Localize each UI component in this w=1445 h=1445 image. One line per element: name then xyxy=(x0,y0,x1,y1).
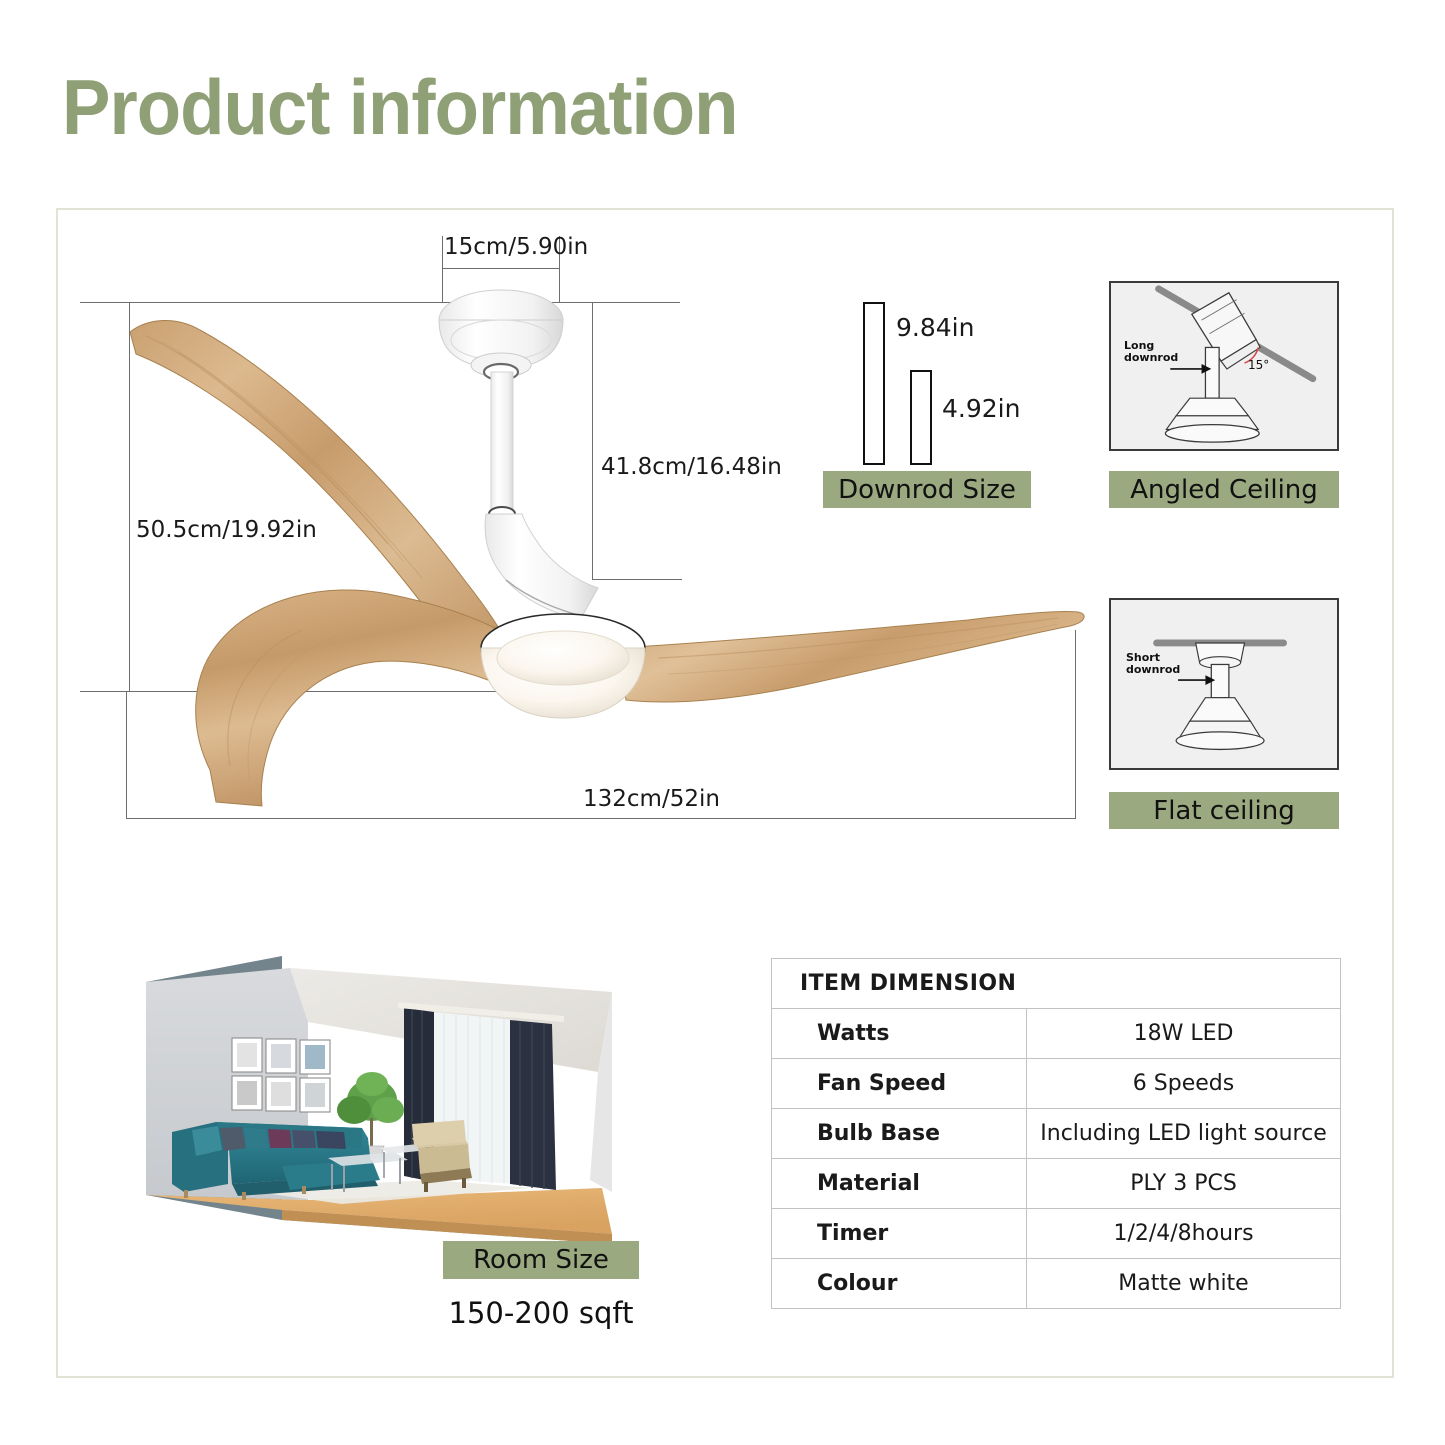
table-row: Colour Matte white xyxy=(772,1259,1341,1309)
short-downrod-bar xyxy=(910,370,932,465)
long-downrod-label: 9.84in xyxy=(896,313,974,342)
row-value-material: PLY 3 PCS xyxy=(1027,1159,1341,1209)
angled-ceiling-diagram: Long downrod 15° xyxy=(1109,281,1339,451)
row-value-timer: 1/2/4/8hours xyxy=(1027,1209,1341,1259)
row-value-colour: Matte white xyxy=(1027,1259,1341,1309)
short-downrod-callout: Short downrod xyxy=(1126,652,1180,676)
table-row: Fan Speed 6 Speeds xyxy=(772,1059,1341,1109)
row-value-fan-speed: 6 Speeds xyxy=(1027,1059,1341,1109)
row-key-timer: Timer xyxy=(772,1209,1027,1259)
long-downrod-bar xyxy=(863,302,885,465)
row-key-material: Material xyxy=(772,1159,1027,1209)
room-illustration xyxy=(132,952,622,1254)
angled-ceiling-chip: Angled Ceiling xyxy=(1109,471,1339,508)
row-value-watts: 18W LED xyxy=(1027,1009,1341,1059)
flat-ceiling-chip: Flat ceiling xyxy=(1109,792,1339,829)
row-value-bulb-base: Including LED light source xyxy=(1027,1109,1341,1159)
item-dimension-table: ITEM DIMENSION Watts 18W LED Fan Speed 6… xyxy=(771,958,1341,1309)
table-header: ITEM DIMENSION xyxy=(772,959,1341,1009)
page-title: Product information xyxy=(62,68,737,146)
row-key-bulb-base: Bulb Base xyxy=(772,1109,1027,1159)
table-row: Material PLY 3 PCS xyxy=(772,1159,1341,1209)
row-key-watts: Watts xyxy=(772,1009,1027,1059)
short-downrod-label: 4.92in xyxy=(942,394,1020,423)
row-key-colour: Colour xyxy=(772,1259,1027,1309)
angle-value-label: 15° xyxy=(1248,359,1269,371)
ceiling-fan-illustration xyxy=(58,210,1118,830)
downrod-size-chip: Downrod Size xyxy=(823,471,1031,508)
table-header-row: ITEM DIMENSION xyxy=(772,959,1341,1009)
flat-ceiling-diagram: Short downrod xyxy=(1109,598,1339,770)
table-row: Bulb Base Including LED light source xyxy=(772,1109,1341,1159)
table-row: Watts 18W LED xyxy=(772,1009,1341,1059)
table-row: Timer 1/2/4/8hours xyxy=(772,1209,1341,1259)
room-size-chip: Room Size xyxy=(443,1241,639,1279)
row-key-fan-speed: Fan Speed xyxy=(772,1059,1027,1109)
room-size-value: 150-200 sqft xyxy=(443,1296,639,1330)
long-downrod-callout: Long downrod xyxy=(1124,340,1178,364)
